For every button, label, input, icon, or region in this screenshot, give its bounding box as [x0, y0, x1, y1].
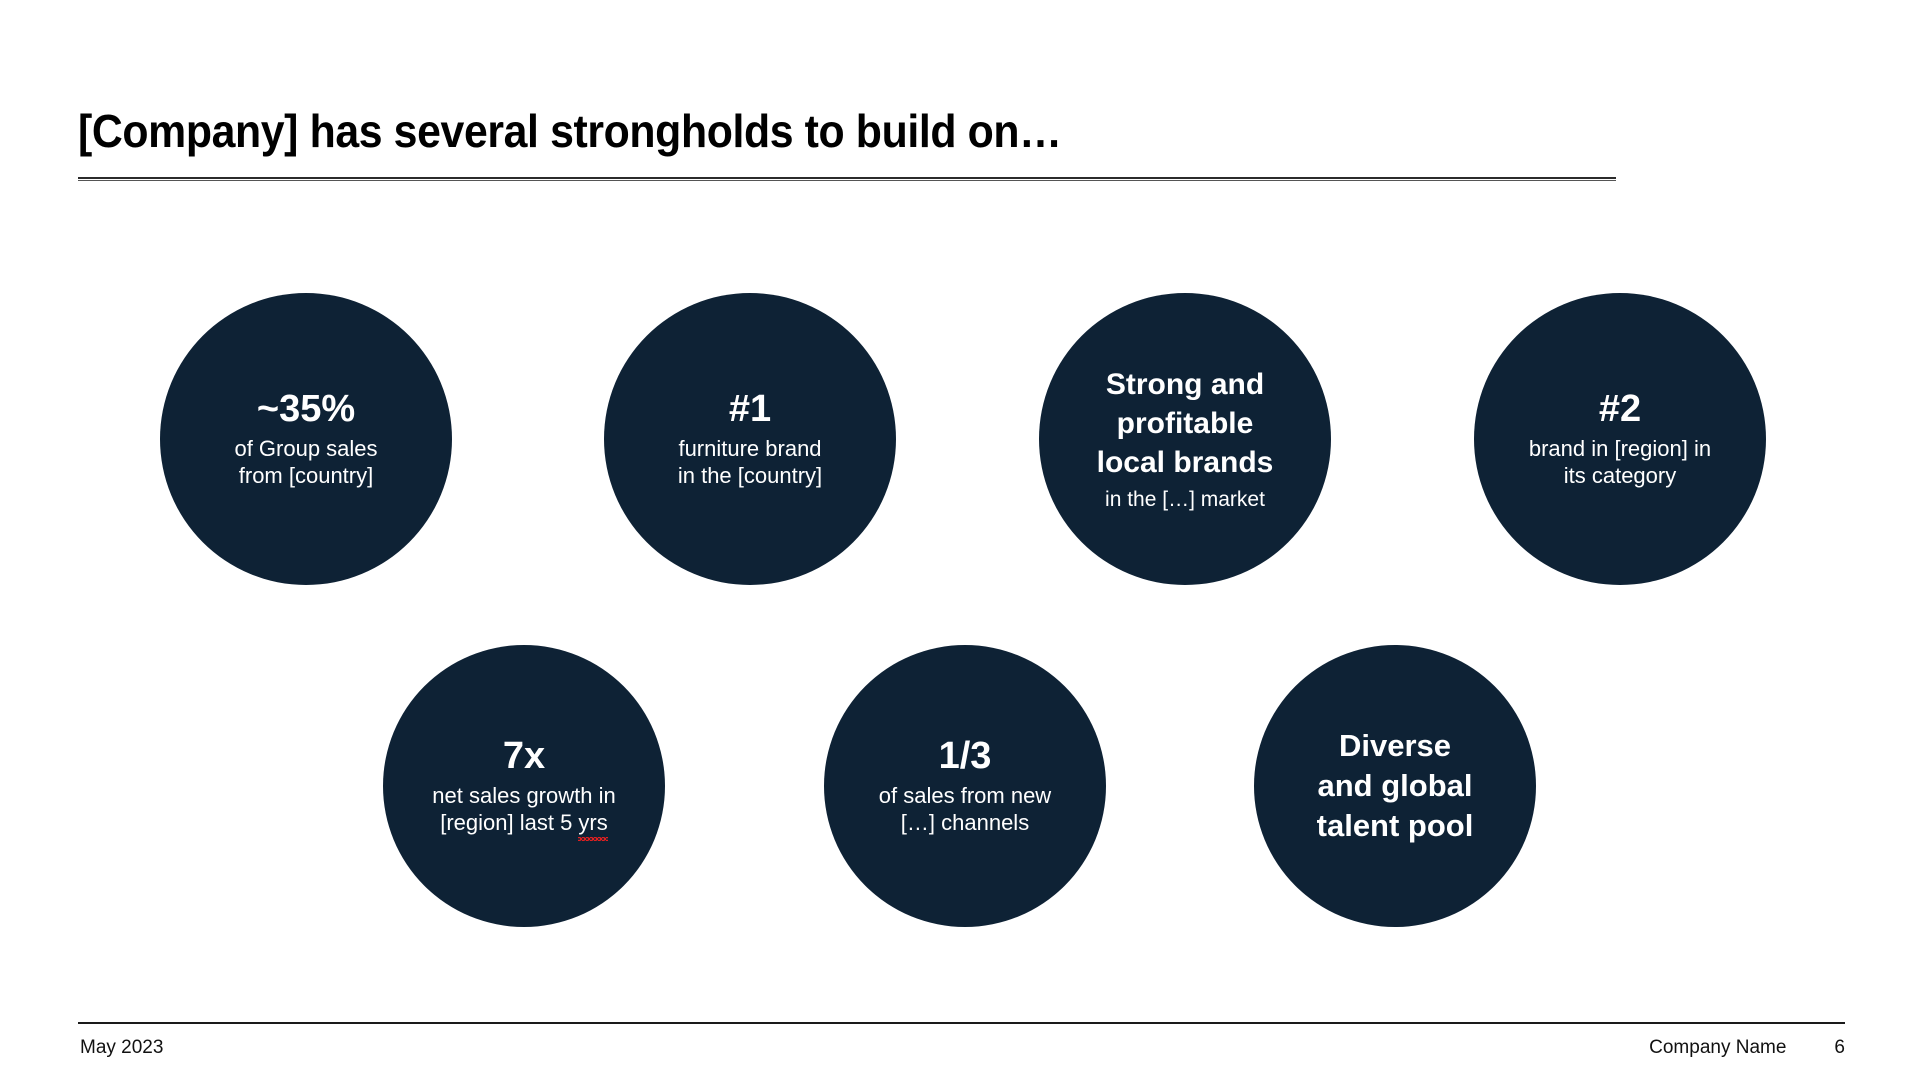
page-title: [Company] has several strongholds to bui… — [78, 104, 1062, 158]
stat-headline: ~35% — [257, 388, 355, 431]
footer-right-group: Company Name 6 — [1649, 1037, 1845, 1059]
title-divider — [78, 177, 1616, 181]
stat-headline: #1 — [729, 388, 771, 431]
footer-company-name: Company Name — [1649, 1037, 1786, 1059]
stat-subtext-misspelled-word: yrs — [578, 809, 607, 837]
footer-divider — [78, 1022, 1845, 1024]
slide-canvas: [Company] has several strongholds to bui… — [0, 0, 1920, 1074]
stat-subtext: of sales from new […] channels — [879, 782, 1051, 837]
stat-circle-furniture-brand-rank[interactable]: #1 furniture brand in the [country] — [604, 293, 896, 585]
stat-subtext: of Group sales from [country] — [234, 435, 377, 490]
stat-headline: 1/3 — [939, 735, 992, 778]
stat-subtext: brand in [region] in its category — [1529, 435, 1711, 490]
title-divider-thick-line — [78, 177, 1616, 179]
stat-circle-group-sales[interactable]: ~35% of Group sales from [country] — [160, 293, 452, 585]
stat-headline: #2 — [1599, 388, 1641, 431]
stat-headline: Strong and profitable local brands — [1097, 365, 1274, 482]
stat-subtext: in the […] market — [1105, 487, 1265, 513]
stat-subtext: furniture brand in the [country] — [678, 435, 822, 490]
stat-circle-net-sales-growth[interactable]: 7x net sales growth in [region] last 5 y… — [383, 645, 665, 927]
stat-circle-category-rank[interactable]: #2 brand in [region] in its category — [1474, 293, 1766, 585]
footer-page-number: 6 — [1834, 1037, 1845, 1059]
stat-headline: 7x — [503, 735, 545, 778]
stat-circle-new-channels[interactable]: 1/3 of sales from new […] channels — [824, 645, 1106, 927]
stat-circle-talent-pool[interactable]: Diverse and global talent pool — [1254, 645, 1536, 927]
stat-subtext: net sales growth in [region] last 5 yrs — [432, 782, 615, 837]
stat-circle-local-brands[interactable]: Strong and profitable local brands in th… — [1039, 293, 1331, 585]
stat-headline: Diverse and global talent pool — [1317, 726, 1474, 845]
footer-date: May 2023 — [80, 1037, 163, 1059]
title-divider-thin-line — [78, 180, 1616, 181]
